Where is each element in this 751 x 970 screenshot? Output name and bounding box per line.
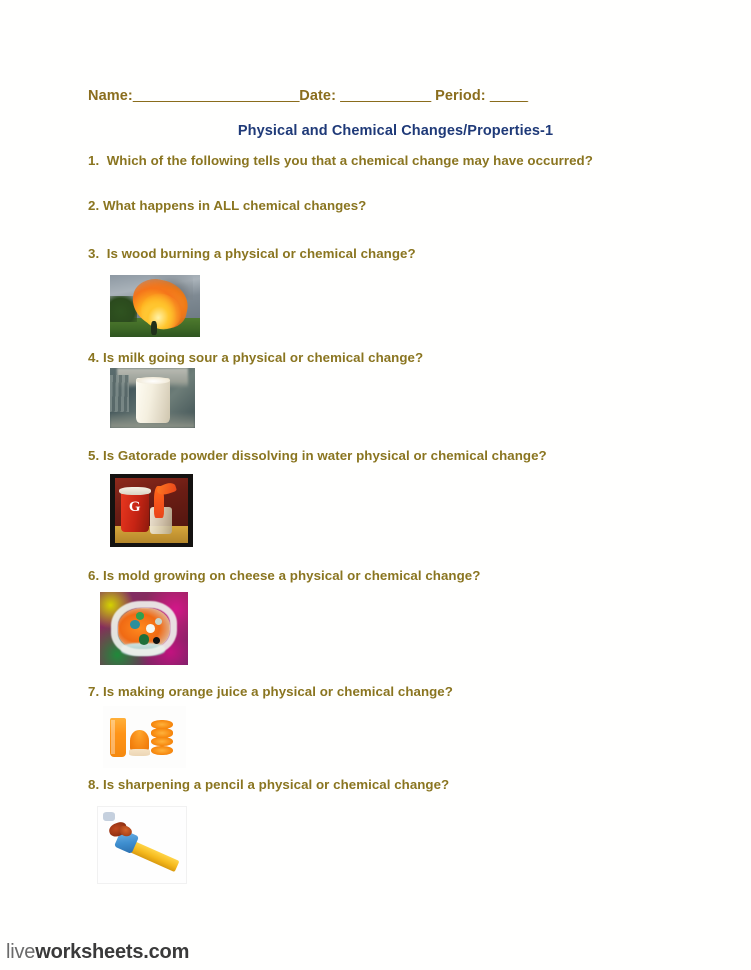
name-blank-field[interactable]: ______________________: [133, 88, 299, 104]
question-3: 3. Is wood burning a physical or chemica…: [88, 246, 416, 261]
question-8-text: Is sharpening a pencil a physical or che…: [103, 777, 449, 792]
question-6-text: Is mold growing on cheese a physical or …: [103, 568, 480, 583]
glass-of-milk-photo: [110, 368, 195, 428]
watermark-bold-part: worksheets.com: [35, 941, 189, 963]
page-title: Physical and Chemical Changes/Properties…: [0, 123, 751, 139]
question-1: 1. Which of the following tells you that…: [88, 153, 593, 168]
gatorade-logo: G: [121, 500, 149, 519]
question-1-text: Which of the following tells you that a …: [107, 153, 593, 168]
gatorade-powder-photo: G: [110, 474, 193, 547]
question-8-number: 8.: [88, 777, 99, 792]
question-6-number: 6.: [88, 568, 99, 583]
burning-wood-photo: [110, 275, 200, 337]
question-7-number: 7.: [88, 684, 99, 699]
question-7-text: Is making orange juice a physical or che…: [103, 684, 453, 699]
question-1-number: 1.: [88, 153, 99, 168]
watermark-light-part: live: [6, 941, 35, 963]
question-5: 5. Is Gatorade powder dissolving in wate…: [88, 448, 547, 463]
date-blank-field[interactable]: ____________: [340, 88, 431, 104]
question-2-number: 2.: [88, 198, 99, 213]
moldy-cheese-photo: [100, 592, 188, 665]
worksheet-page: Name:______________________Date: _______…: [0, 0, 751, 970]
question-5-number: 5.: [88, 448, 99, 463]
question-6: 6. Is mold growing on cheese a physical …: [88, 568, 480, 583]
liveworksheets-watermark: liveworksheets.com: [6, 941, 189, 964]
student-info-line: Name:______________________Date: _______…: [88, 88, 688, 104]
orange-juice-photo: [103, 706, 186, 768]
question-3-number: 3.: [88, 246, 99, 261]
question-8: 8. Is sharpening a pencil a physical or …: [88, 777, 449, 792]
question-4-text: Is milk going sour a physical or chemica…: [103, 350, 423, 365]
question-2-text: What happens in ALL chemical changes?: [103, 198, 366, 213]
period-blank-field[interactable]: _____: [490, 88, 528, 104]
question-5-text: Is Gatorade powder dissolving in water p…: [103, 448, 547, 463]
period-label: Period:: [435, 88, 486, 104]
question-3-text: Is wood burning a physical or chemical c…: [107, 246, 416, 261]
name-label: Name:: [88, 88, 133, 104]
pencil-sharpening-photo: [97, 806, 187, 884]
date-label: Date:: [299, 88, 336, 104]
question-4-number: 4.: [88, 350, 99, 365]
question-4: 4. Is milk going sour a physical or chem…: [88, 350, 423, 365]
question-7: 7. Is making orange juice a physical or …: [88, 684, 453, 699]
question-2: 2. What happens in ALL chemical changes?: [88, 198, 366, 213]
